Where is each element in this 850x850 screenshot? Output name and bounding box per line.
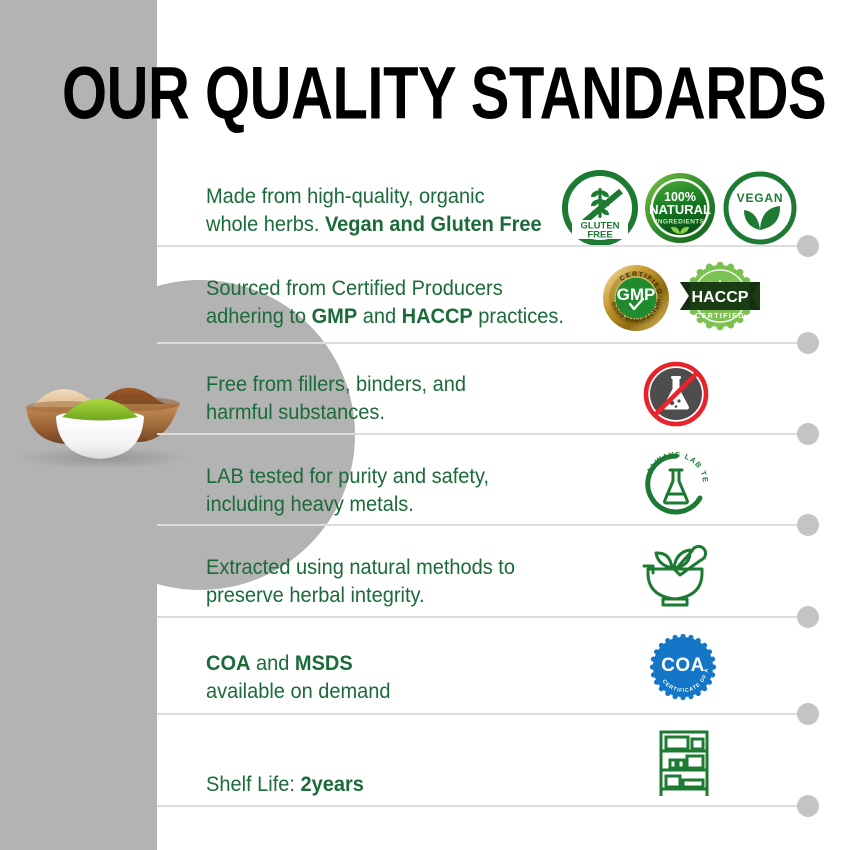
- row-2-line1: Sourced from Certified Producers: [206, 276, 503, 300]
- standard-row-certified-producers: Sourced from Certified Producers adherin…: [157, 252, 850, 342]
- 100-natural-ingredients-badge: 100% NATURAL INGREDIENTS: [642, 170, 718, 246]
- row-7-label: Shelf Life:: [206, 772, 300, 796]
- row-2-part-a: adhering to: [206, 304, 312, 328]
- shelf-rack-icon: [653, 728, 715, 798]
- haccp-center-label: HACCP: [692, 289, 749, 306]
- row-4-line1: LAB tested for purity and safety,: [206, 464, 489, 488]
- standard-row-coa-msds: COA and MSDS available on demand: [157, 623, 850, 713]
- row-3-line1: Free from fillers, binders, and: [206, 372, 466, 396]
- gmp-certified-badge: CERTIFIED GOOD MANUFACTURING PRACTICE GM…: [600, 262, 672, 334]
- row-6-line2: available on demand: [206, 679, 391, 703]
- natural-badge-line3: INGREDIENTS: [656, 219, 705, 226]
- row-2-part-haccp: HACCP: [402, 304, 473, 328]
- haccp-sub-label: CERTIFIED: [695, 313, 745, 320]
- standard-row-natural-extraction: Extracted using natural methods to prese…: [157, 531, 850, 616]
- row-3-line2: harmful substances.: [206, 400, 385, 424]
- row-1-line2-bold: Vegan and Gluten Free: [325, 212, 542, 236]
- row-6-msds: MSDS: [295, 651, 353, 675]
- row-2-text: Sourced from Certified Producers adherin…: [206, 274, 564, 331]
- row-4-text: LAB tested for purity and safety, includ…: [206, 462, 489, 519]
- row-divider-dot-7: [797, 795, 819, 817]
- row-7-text: Shelf Life: 2years: [206, 770, 364, 798]
- row-6-icon-wrap: COA CERTIFICATE OF ANALYSIS: [647, 631, 719, 703]
- natural-badge-line2: NATURAL: [649, 202, 711, 217]
- row-2-part-c: practices.: [473, 304, 564, 328]
- row-6-and: and: [250, 651, 294, 675]
- row-divider-7: [157, 805, 808, 807]
- row-5-line2: preserve herbal integrity.: [206, 583, 425, 607]
- row-divider-1: [157, 245, 808, 247]
- vegan-badge-label: VEGAN: [737, 191, 784, 205]
- gmp-center-label: GMP: [617, 285, 656, 304]
- row-divider-6: [157, 713, 808, 715]
- row-1-line1: Made from high-quality, organic: [206, 184, 485, 208]
- coa-seal-icon: COA CERTIFICATE OF ANALYSIS: [647, 631, 719, 703]
- row-5-icon-wrap: [635, 537, 715, 611]
- row-divider-5: [157, 616, 808, 618]
- mortar-pestle-icon: [635, 537, 715, 611]
- infographic-page: OUR QUALITY STANDARDS Made from high-qua…: [0, 0, 850, 850]
- row-divider-2: [157, 342, 808, 344]
- standard-row-lab-tested: LAB tested for purity and safety, includ…: [157, 440, 850, 525]
- row-2-part-b: and: [357, 304, 401, 328]
- haccp-certified-badge: CERTIFIED HACCP: [680, 262, 760, 334]
- row-5-text: Extracted using natural methods to prese…: [206, 553, 515, 610]
- gluten-free-badge: GLUTEN FREE: [562, 170, 638, 246]
- row-5-line1: Extracted using natural methods to: [206, 555, 515, 579]
- no-chemicals-icon: [640, 358, 712, 430]
- row-6-coa: COA: [206, 651, 250, 675]
- row-3-text: Free from fillers, binders, and harmful …: [206, 370, 466, 427]
- row-2-part-gmp: GMP: [312, 304, 358, 328]
- row-divider-4: [157, 524, 808, 526]
- row-7-value: 2years: [300, 772, 363, 796]
- row-1-badges: GLUTEN FREE: [562, 170, 798, 246]
- vegan-badge: VEGAN: [722, 170, 798, 246]
- row-1-line2-normal: whole herbs.: [206, 212, 325, 236]
- standard-row-no-fillers: Free from fillers, binders, and harmful …: [157, 348, 850, 433]
- row-3-icon-wrap: [640, 358, 712, 430]
- standard-row-shelf-life: Shelf Life: 2years: [157, 720, 850, 805]
- coa-center-label: COA: [661, 655, 705, 676]
- standard-row-organic-whole-herbs: Made from high-quality, organic whole he…: [157, 170, 850, 245]
- row-7-icon-wrap: [653, 728, 715, 798]
- row-4-icon-wrap: ALWAYS LAB TESTED: [640, 448, 712, 520]
- row-divider-3: [157, 433, 808, 435]
- row-6-text: COA and MSDS available on demand: [206, 649, 391, 706]
- row-2-badges: CERTIFIED GOOD MANUFACTURING PRACTICE GM…: [600, 262, 760, 334]
- row-4-line2: including heavy metals.: [206, 492, 414, 516]
- page-title: OUR QUALITY STANDARDS: [62, 57, 826, 131]
- gluten-free-line2: FREE: [587, 230, 612, 241]
- always-lab-tested-badge: ALWAYS LAB TESTED: [640, 448, 712, 520]
- row-1-text: Made from high-quality, organic whole he…: [206, 182, 542, 239]
